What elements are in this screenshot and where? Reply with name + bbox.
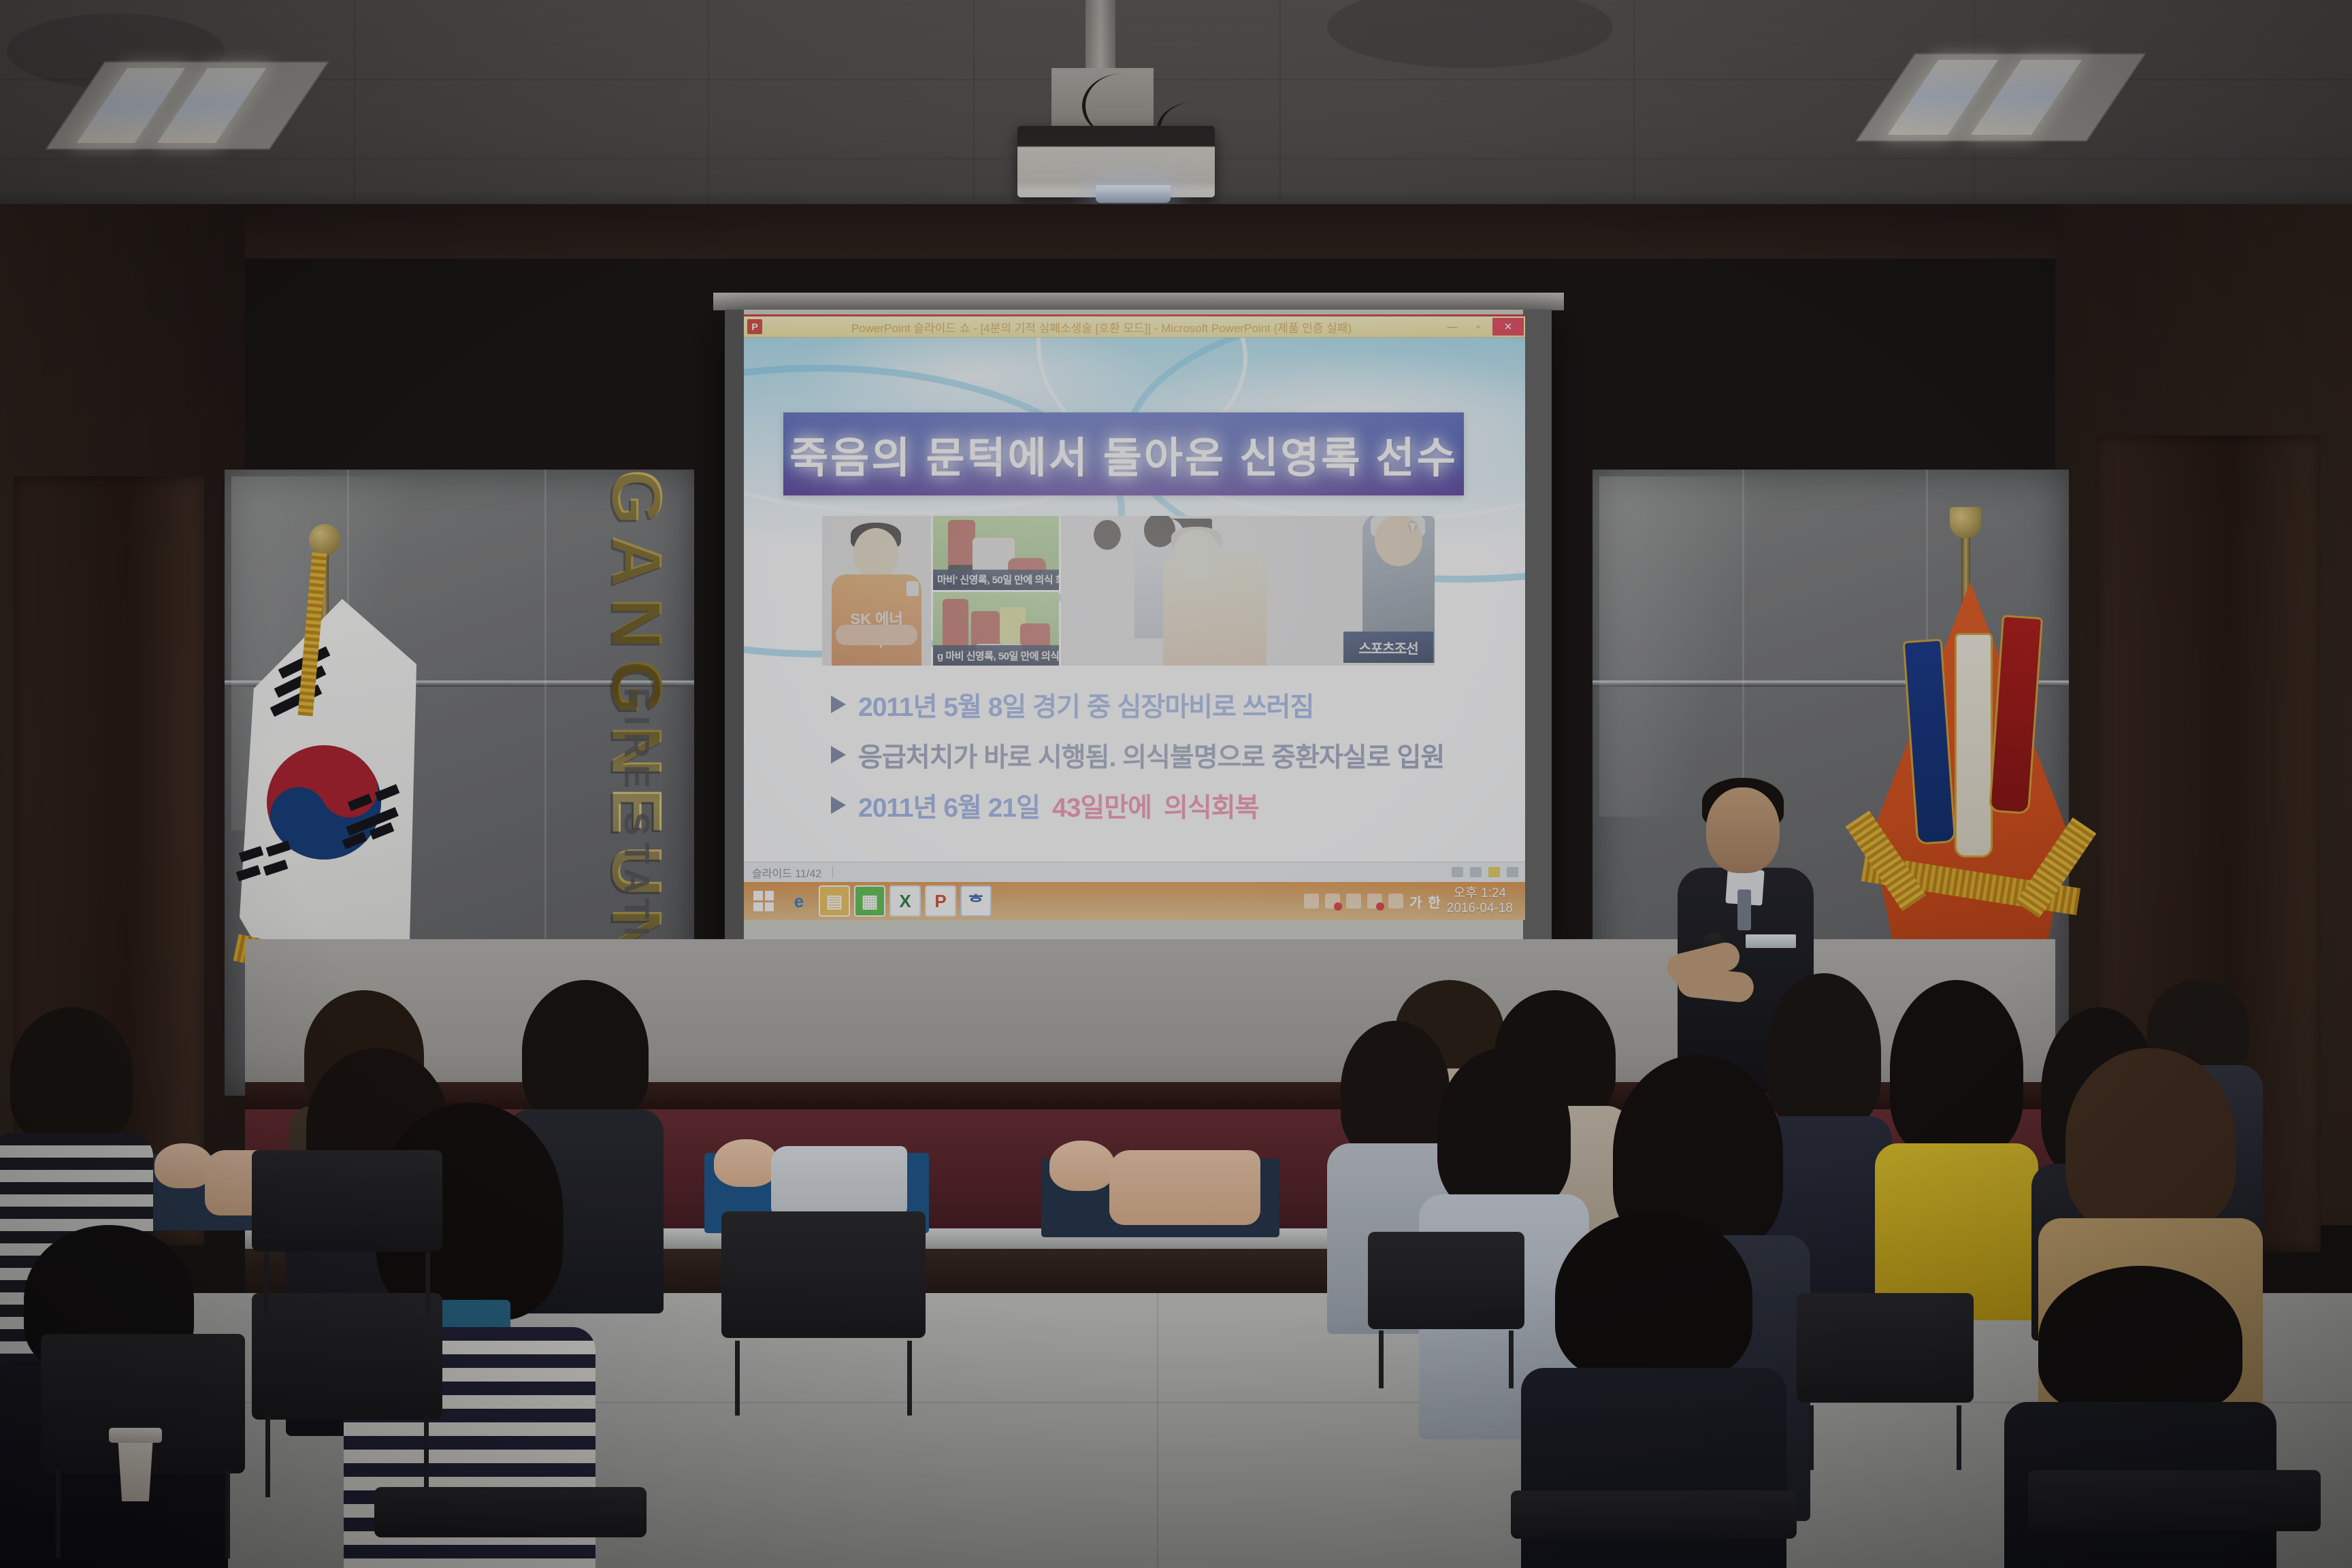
chair-center-1[interactable]: [252, 1150, 442, 1313]
clock-time: 오후 1:24: [1447, 886, 1513, 901]
window-controls: — ▫ ✕: [1441, 318, 1524, 336]
maximize-button[interactable]: ▫: [1467, 318, 1490, 336]
slide-bullet-1: 2011년 5월 8일 경기 중 심장마비로 쓰러짐: [831, 686, 1484, 724]
status-divider: [832, 866, 833, 879]
speaker-icon[interactable]: [1388, 894, 1403, 909]
chair-back-right[interactable]: [1368, 1232, 1524, 1388]
chair-right-3[interactable]: [1797, 1293, 1974, 1470]
powerpoint-app-icon: P: [747, 319, 762, 334]
status-view-icons: [1452, 867, 1525, 877]
slide-photo-collage: SK 에너지 마비' 신영록, 50일 만에 의식 회: [822, 516, 1435, 666]
hangul-office-icon[interactable]: ᄒ: [960, 885, 992, 917]
windows-store-icon[interactable]: ▦: [854, 885, 885, 917]
bullet-triangle-icon: [831, 746, 846, 764]
bullet-triangle-icon: [831, 696, 846, 713]
screen-letterbox-left: [725, 310, 744, 963]
powerpoint-title-bar: P PowerPoint 슬라이드 쇼 - [4분의 기적 심폐소생술 [호환 …: [744, 314, 1525, 338]
internet-explorer-icon[interactable]: e: [783, 885, 815, 917]
reading-view-icon[interactable]: [1488, 867, 1500, 877]
windows-taskbar[interactable]: e ▤ ▦ X P ᄒ 가 한 오후 1:24 2016-04-18: [744, 882, 1525, 920]
slide-title: 죽음의 문턱에서 돌아온 신영록 선수: [783, 412, 1464, 495]
photo-caption-collapse-top: 마비' 신영록, 50일 만에 의식 회: [933, 570, 1059, 590]
slideshow-view-icon[interactable]: [1507, 867, 1518, 877]
ime-hangul-indicator[interactable]: 한: [1428, 892, 1440, 911]
battery-icon[interactable]: [1346, 894, 1361, 909]
slide-counter: 슬라이드 11/42: [752, 864, 821, 881]
show-hidden-icons-icon[interactable]: [1304, 894, 1319, 909]
flag-finial-left: [309, 524, 340, 555]
chair-right-2[interactable]: [2028, 1470, 2321, 1568]
chair-left-2[interactable]: [252, 1293, 442, 1497]
powerpoint-window-title: PowerPoint 슬라이드 쇼 - [4분의 기적 심폐소생술 [호환 모드…: [762, 318, 1441, 336]
photo-caption-collapse-bottom: g 마비 신영록, 50일 만에 의식 회: [933, 645, 1059, 666]
projection-screen-roller: [713, 293, 1564, 310]
bullet-2-text: 응급처치가 바로 시행됨. 의식불명으로 중환자실로 입원: [858, 736, 1444, 774]
instructor-name-badge: [1746, 934, 1796, 948]
wall-upper-band: [0, 204, 2352, 259]
slide-title-band: 죽음의 문턱에서 돌아온 신영록 선수: [783, 412, 1464, 495]
chair-left-3[interactable]: [374, 1487, 647, 1568]
file-explorer-icon[interactable]: ▤: [819, 885, 850, 917]
chair-center-2[interactable]: [721, 1211, 926, 1416]
photo-caption-jersey: SK 에너지: [844, 607, 909, 623]
photo-collapse-news: 마비' 신영록, 50일 만에 의식 회 g 마비 신영록, 50일 만에 의식…: [933, 516, 1059, 666]
photo-hospital-recovery: 스포츠조선: [1061, 516, 1435, 666]
audience-member-back-yellow: [1878, 980, 2035, 1273]
photo-player-portrait: SK 에너지: [822, 516, 931, 666]
excel-icon[interactable]: X: [889, 885, 921, 917]
system-tray: 가 한 오후 1:24 2016-04-18: [1304, 886, 1525, 916]
powerpoint-icon[interactable]: P: [925, 885, 956, 917]
clock-date: 2016-04-18: [1447, 901, 1513, 916]
chair-right-1[interactable]: [1511, 1490, 1797, 1568]
screen-letterbox-right: [1523, 310, 1552, 963]
ime-alpha-indicator[interactable]: 가: [1409, 892, 1422, 911]
network-icon[interactable]: [1325, 894, 1340, 909]
flag-finial-right: [1950, 507, 1981, 538]
close-button[interactable]: ✕: [1492, 318, 1524, 336]
slide-bullet-list: 2011년 5월 8일 경기 중 심장마비로 쓰러짐 응급처치가 바로 시행됨.…: [831, 686, 1484, 837]
windows-logo-icon: [753, 891, 774, 911]
photo-caption-sportschosun: 스포츠조선: [1343, 632, 1433, 663]
bullet-3-highlight: 43일만에: [1052, 787, 1151, 825]
bullet-3-outcome: 의식회복: [1164, 787, 1259, 825]
sorter-view-icon[interactable]: [1470, 867, 1482, 877]
normal-view-icon[interactable]: [1452, 867, 1463, 877]
powerpoint-status-bar: 슬라이드 11/42: [744, 862, 1525, 882]
coffee-cup-lid: [109, 1428, 162, 1443]
lecture-hall-photo: GANGNEUNG FIRE STATION P PowerPoint 슬라이드…: [0, 0, 2352, 1568]
powerpoint-window[interactable]: P PowerPoint 슬라이드 쇼 - [4분의 기적 심폐소생술 [호환 …: [744, 314, 1525, 920]
minimize-button[interactable]: —: [1441, 318, 1464, 336]
bullet-triangle-icon: [831, 796, 846, 814]
taskbar-clock[interactable]: 오후 1:24 2016-04-18: [1447, 886, 1520, 916]
slide-canvas[interactable]: 죽음의 문턱에서 돌아온 신영록 선수 SK 에너지: [744, 338, 1525, 862]
cpr-manikin-center-right: [1041, 1138, 1279, 1233]
start-button[interactable]: [748, 885, 779, 917]
slide-bullet-3: 2011년 6월 21일 43일만에 의식회복: [831, 787, 1484, 825]
projector-pole: [1085, 0, 1115, 75]
slide-bullet-2: 응급처치가 바로 시행됨. 의식불명으로 중환자실로 입원: [831, 736, 1484, 774]
bullet-1-text: 2011년 5월 8일 경기 중 심장마비로 쓰러짐: [858, 686, 1313, 724]
flag-ribbon-white: [1955, 633, 1993, 857]
bullet-3-date: 2011년 6월 21일: [858, 787, 1040, 825]
volume-icon[interactable]: [1367, 894, 1382, 909]
